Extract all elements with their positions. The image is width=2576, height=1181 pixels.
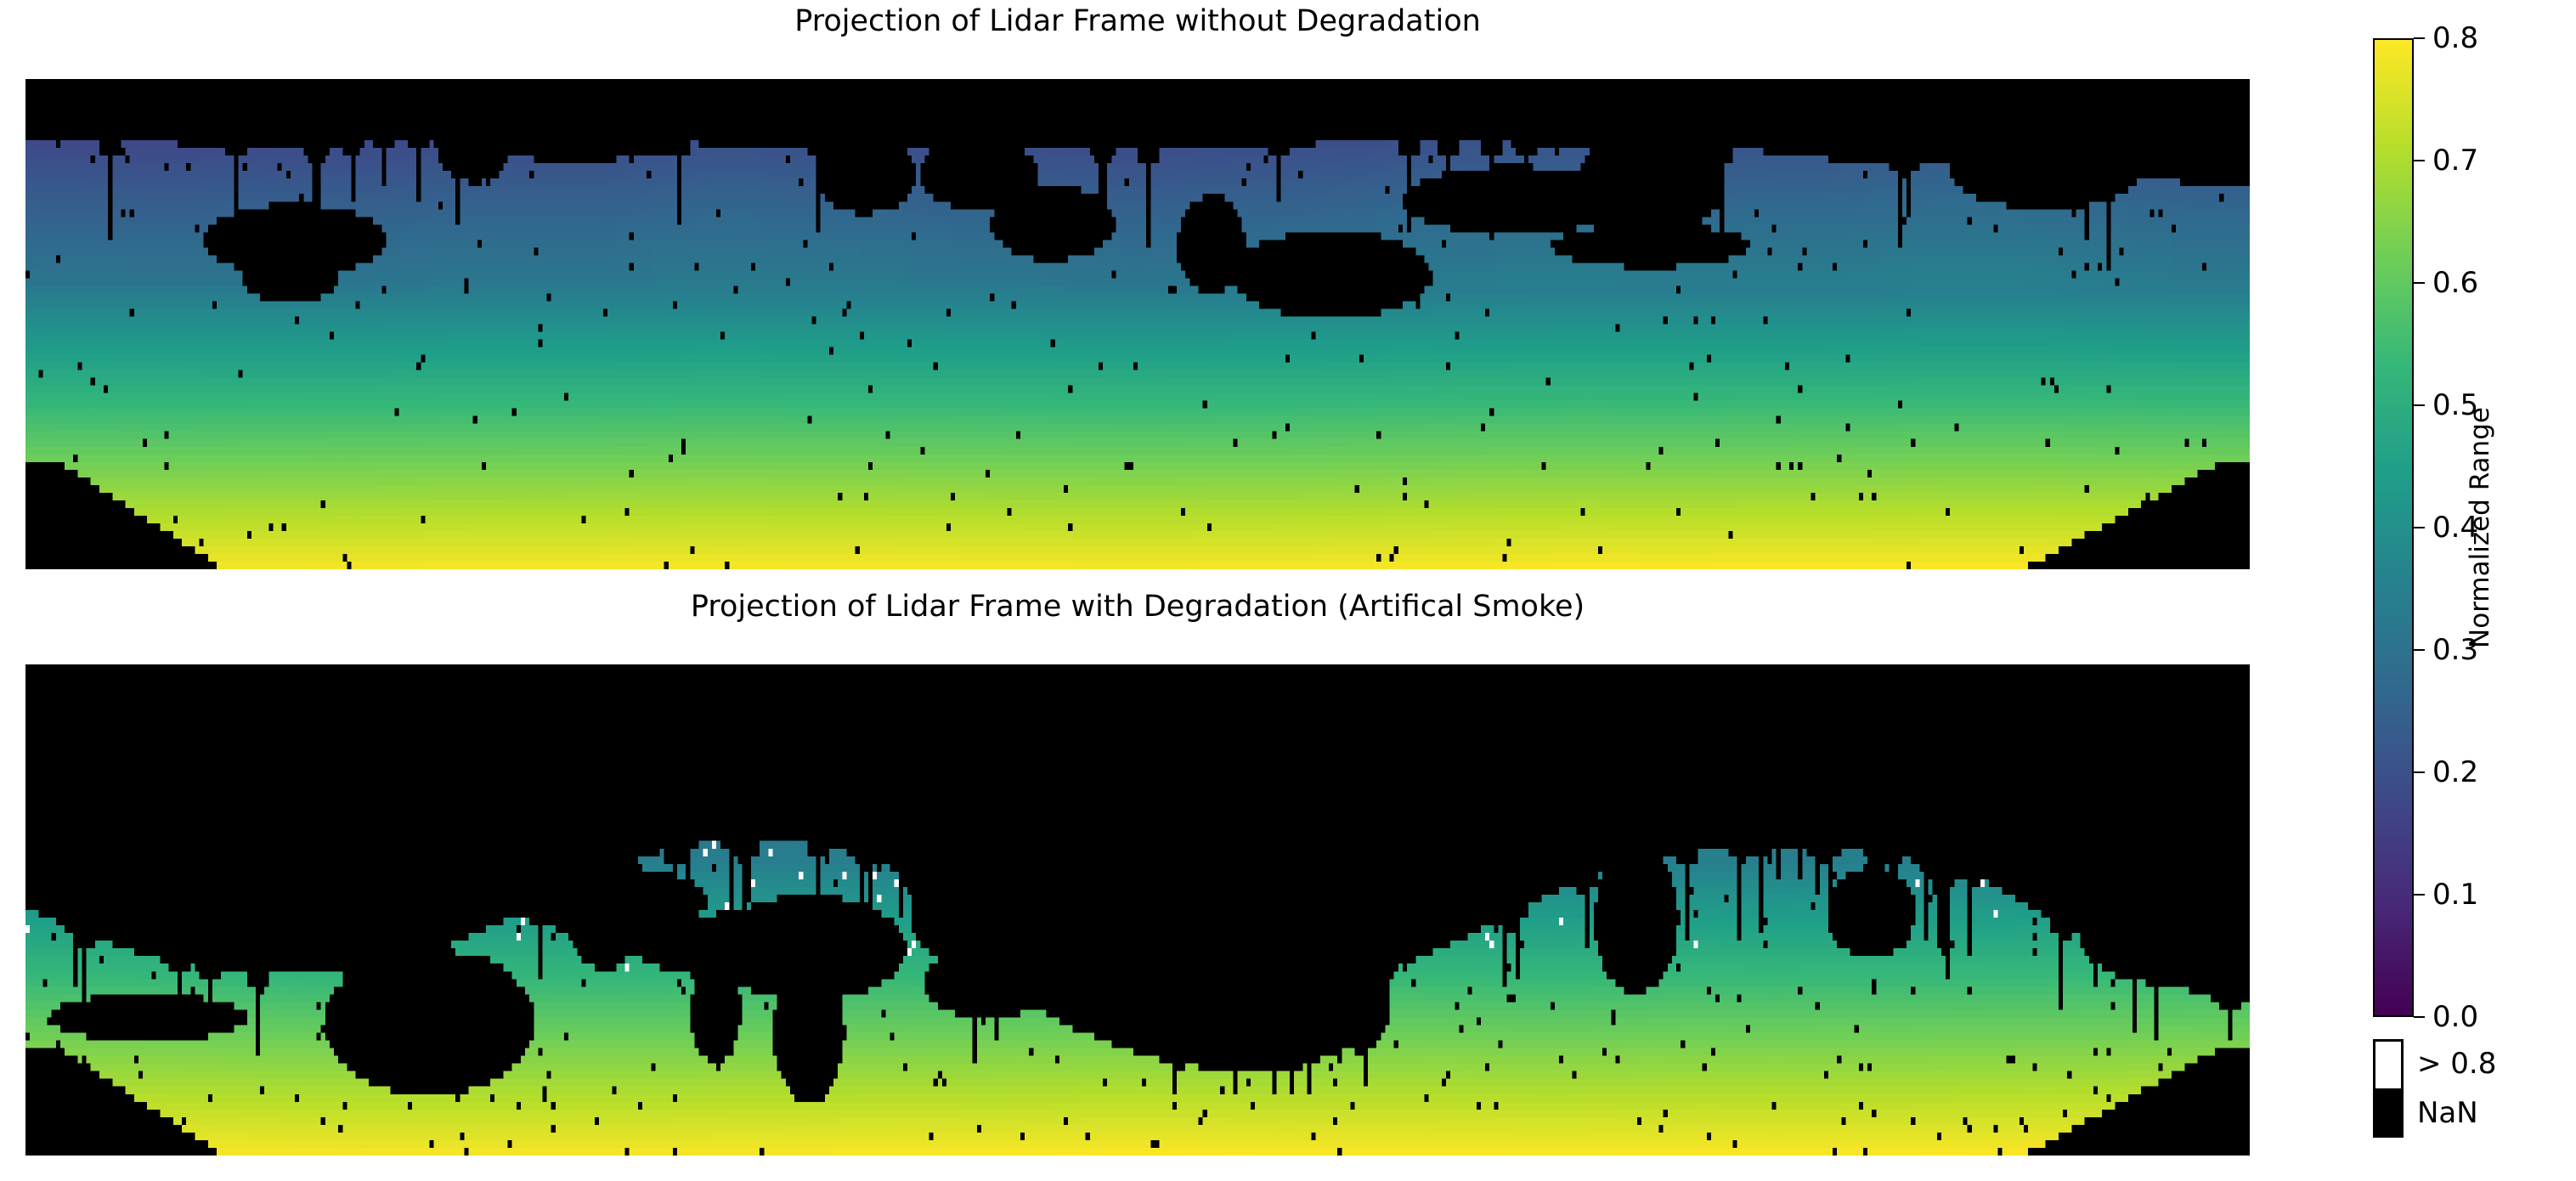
colorbar-tick-0.5 — [2414, 404, 2425, 406]
colorbar-tick-0.8 — [2414, 37, 2425, 39]
colorbar-tick-0.3 — [2414, 649, 2425, 651]
legend-item-nan: NaN — [2373, 1088, 2560, 1138]
lidar-image-without-degradation — [25, 79, 2250, 569]
legend-label-nan: NaN — [2417, 1099, 2478, 1127]
lidar-image-with-degradation — [25, 664, 2250, 1156]
colorbar: 0.00.10.20.30.40.50.60.70.8 — [2373, 38, 2414, 1017]
panel-title-bottom: Projection of Lidar Frame with Degradati… — [25, 592, 2250, 622]
colorbar-tick-0.0 — [2414, 1016, 2425, 1018]
colorbar-axis-label: Normalized Range — [2467, 407, 2494, 648]
panel-title-top: Projection of Lidar Frame without Degrad… — [25, 7, 2250, 37]
legend: > 0.8 NaN — [2373, 1039, 2560, 1138]
colorbar-ticklabel-0.7: 0.7 — [2432, 146, 2478, 175]
colorbar-ticklabel-0.8: 0.8 — [2432, 24, 2478, 53]
range-image-canvas-top — [25, 79, 2250, 569]
colorbar-ticklabel-0.6: 0.6 — [2432, 268, 2478, 297]
colorbar-tick-0.2 — [2414, 771, 2425, 773]
legend-item-over: > 0.8 — [2373, 1039, 2560, 1088]
colorbar-ticklabel-0.2: 0.2 — [2432, 758, 2478, 787]
colorbar-tick-0.6 — [2414, 282, 2425, 284]
colorbar-tick-0.4 — [2414, 527, 2425, 528]
legend-label-over: > 0.8 — [2417, 1049, 2496, 1078]
colorbar-gradient — [2373, 38, 2414, 1017]
legend-swatch-nan — [2373, 1088, 2404, 1138]
colorbar-tick-0.7 — [2414, 160, 2425, 161]
colorbar-ticklabel-0.1: 0.1 — [2432, 880, 2478, 909]
figure-canvas: Projection of Lidar Frame without Degrad… — [0, 0, 2576, 1181]
legend-swatch-over — [2373, 1039, 2404, 1088]
range-image-canvas-bottom — [25, 664, 2250, 1156]
colorbar-ticklabel-0.0: 0.0 — [2432, 1003, 2478, 1031]
colorbar-tick-0.1 — [2414, 894, 2425, 896]
